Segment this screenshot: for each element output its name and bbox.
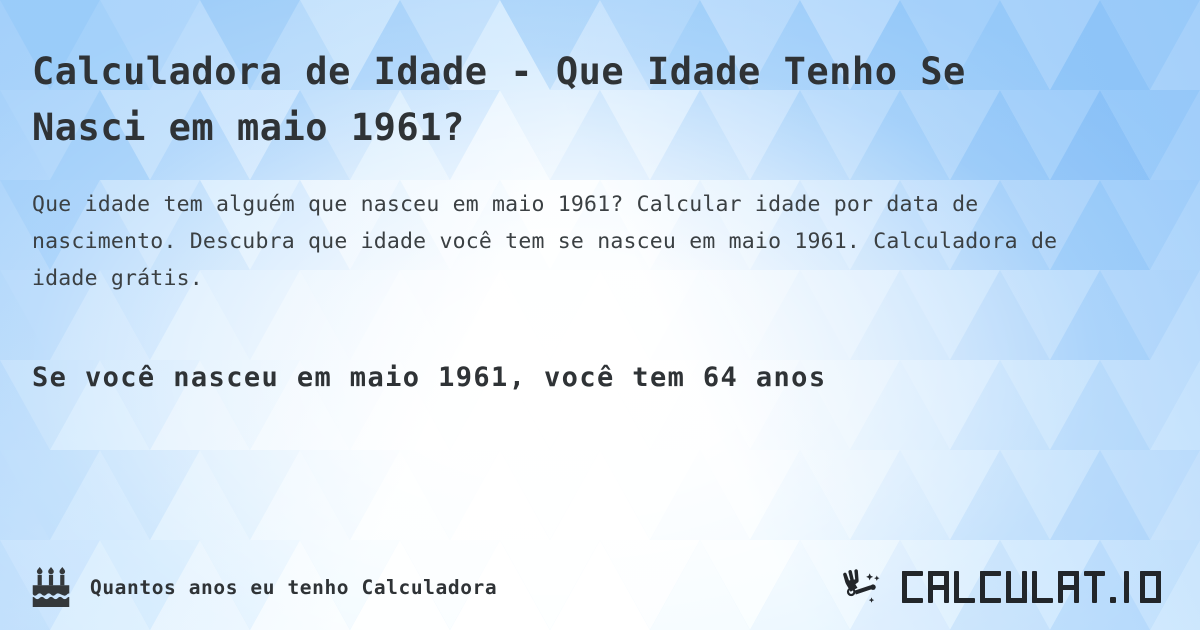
page-title: Calculadora de Idade - Que Idade Tenho S…	[32, 44, 1042, 156]
logo-wordmark	[900, 567, 1168, 607]
og-image-card: Calculadora de Idade - Que Idade Tenho S…	[0, 0, 1200, 630]
content-area: Calculadora de Idade - Que Idade Tenho S…	[0, 0, 1200, 630]
age-result-text: Se você nasceu em maio 1961, você tem 64…	[32, 358, 1162, 398]
magic-wand-hand-icon	[840, 567, 892, 607]
footer-brand: Quantos anos eu tenho Calculadora	[30, 567, 497, 607]
page-description: Que idade tem alguém que nasceu em maio …	[32, 186, 1130, 297]
footer-brand-label: Quantos anos eu tenho Calculadora	[90, 576, 497, 599]
birthday-cake-icon	[30, 567, 72, 607]
calculatio-logo[interactable]	[840, 567, 1168, 607]
footer: Quantos anos eu tenho Calculadora	[0, 544, 1200, 630]
